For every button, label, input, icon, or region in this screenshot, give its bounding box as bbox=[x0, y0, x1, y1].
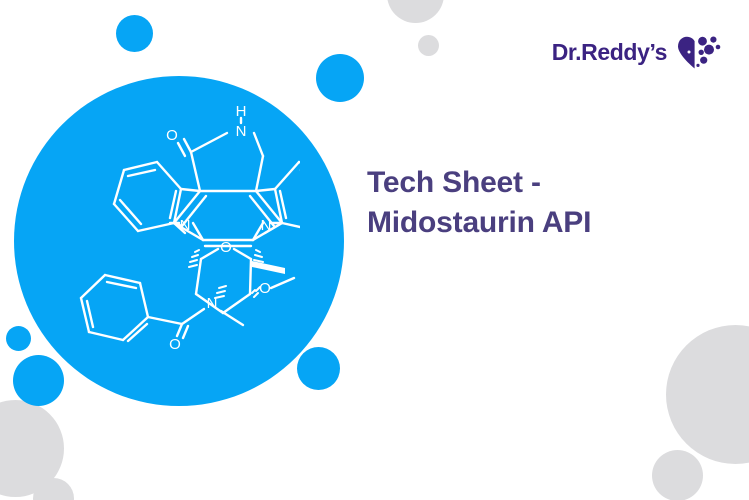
atom-label-O-pyran: O bbox=[220, 239, 232, 256]
gray-circle-top-right-small bbox=[418, 35, 439, 56]
page-title: Tech Sheet - Midostaurin API bbox=[367, 163, 707, 243]
atom-label-H: H bbox=[236, 103, 247, 120]
atom-label-O-benzoyl: O bbox=[169, 336, 181, 352]
dr-reddys-heart-logo-icon bbox=[677, 36, 721, 69]
blue-circle-top-left bbox=[116, 15, 153, 52]
atom-label-N-indole-right: N bbox=[261, 217, 272, 234]
atom-label-O-lactam: O bbox=[166, 127, 178, 144]
atom-label-N-lactam: N bbox=[236, 123, 247, 140]
blue-circle-bottom-left bbox=[13, 355, 64, 406]
atom-label-O-methoxy: O bbox=[259, 280, 271, 297]
atom-label-N-amide: N bbox=[207, 295, 218, 312]
gray-circle-bottom-right-small bbox=[652, 450, 703, 500]
dr-reddys-logo: Dr.Reddy’s bbox=[552, 36, 721, 69]
slide-canvas: H N O N N O O N O Dr.Reddy’s bbox=[0, 0, 749, 500]
gray-circle-top-right-large bbox=[387, 0, 444, 23]
blue-circle-bottom-mid bbox=[297, 347, 340, 390]
gray-circle-bottom-right-large bbox=[666, 325, 749, 464]
atom-label-N-indole-left: N bbox=[180, 217, 191, 234]
midostaurin-structure-diagram: H N O N N O O N O bbox=[60, 92, 300, 352]
blue-circle-top-right bbox=[316, 54, 364, 102]
logo-wordmark: Dr.Reddy’s bbox=[552, 41, 667, 64]
blue-circle-bottom-left-small bbox=[6, 326, 31, 351]
